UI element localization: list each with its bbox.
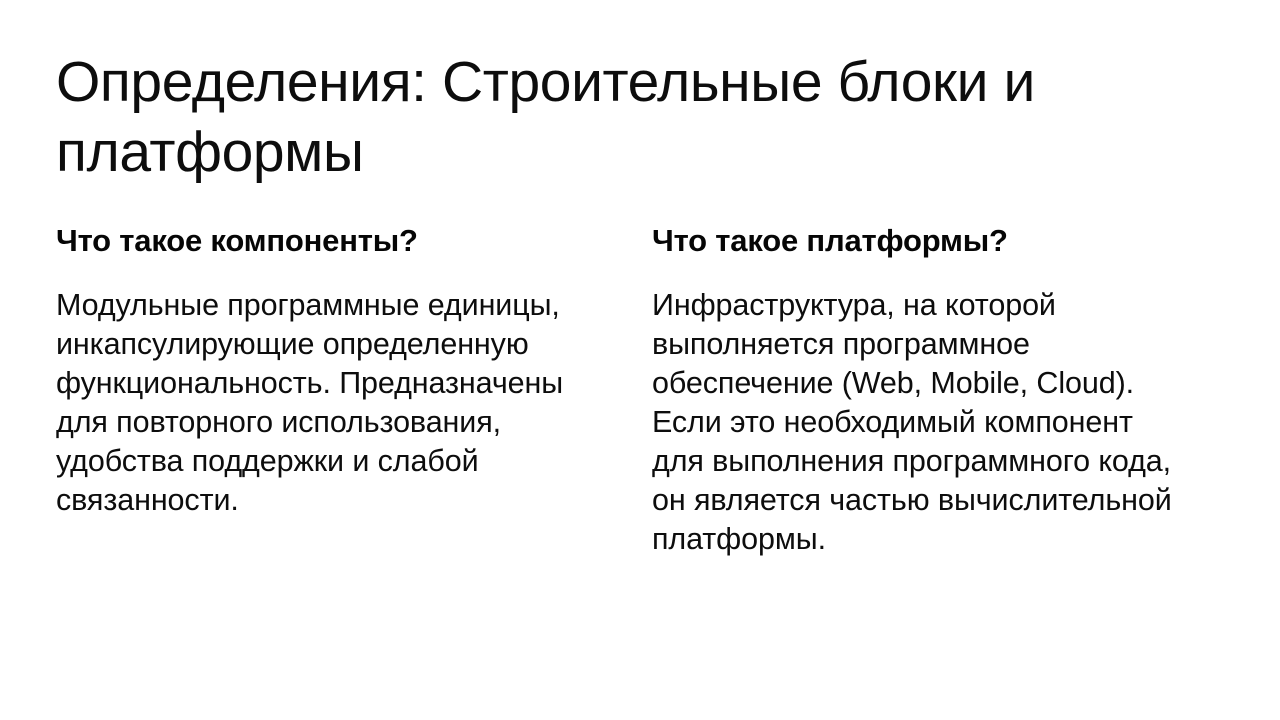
column-heading-components: Что такое компоненты? xyxy=(56,222,564,260)
content-columns: Что такое компоненты? Модульные программ… xyxy=(0,222,1280,559)
column-body-platforms: Инфраструктура, на которой выполняется п… xyxy=(652,286,1192,559)
column-heading-platforms: Что такое платформы? xyxy=(652,222,1192,260)
page-title: Определения: Строительные блоки и платфо… xyxy=(56,47,1156,187)
column-platforms: Что такое платформы? Инфраструктура, на … xyxy=(596,222,1216,559)
slide-canvas: Определения: Строительные блоки и платфо… xyxy=(0,0,1280,720)
column-components: Что такое компоненты? Модульные программ… xyxy=(0,222,596,520)
column-body-components: Модульные программные единицы, инкапсули… xyxy=(56,286,564,520)
